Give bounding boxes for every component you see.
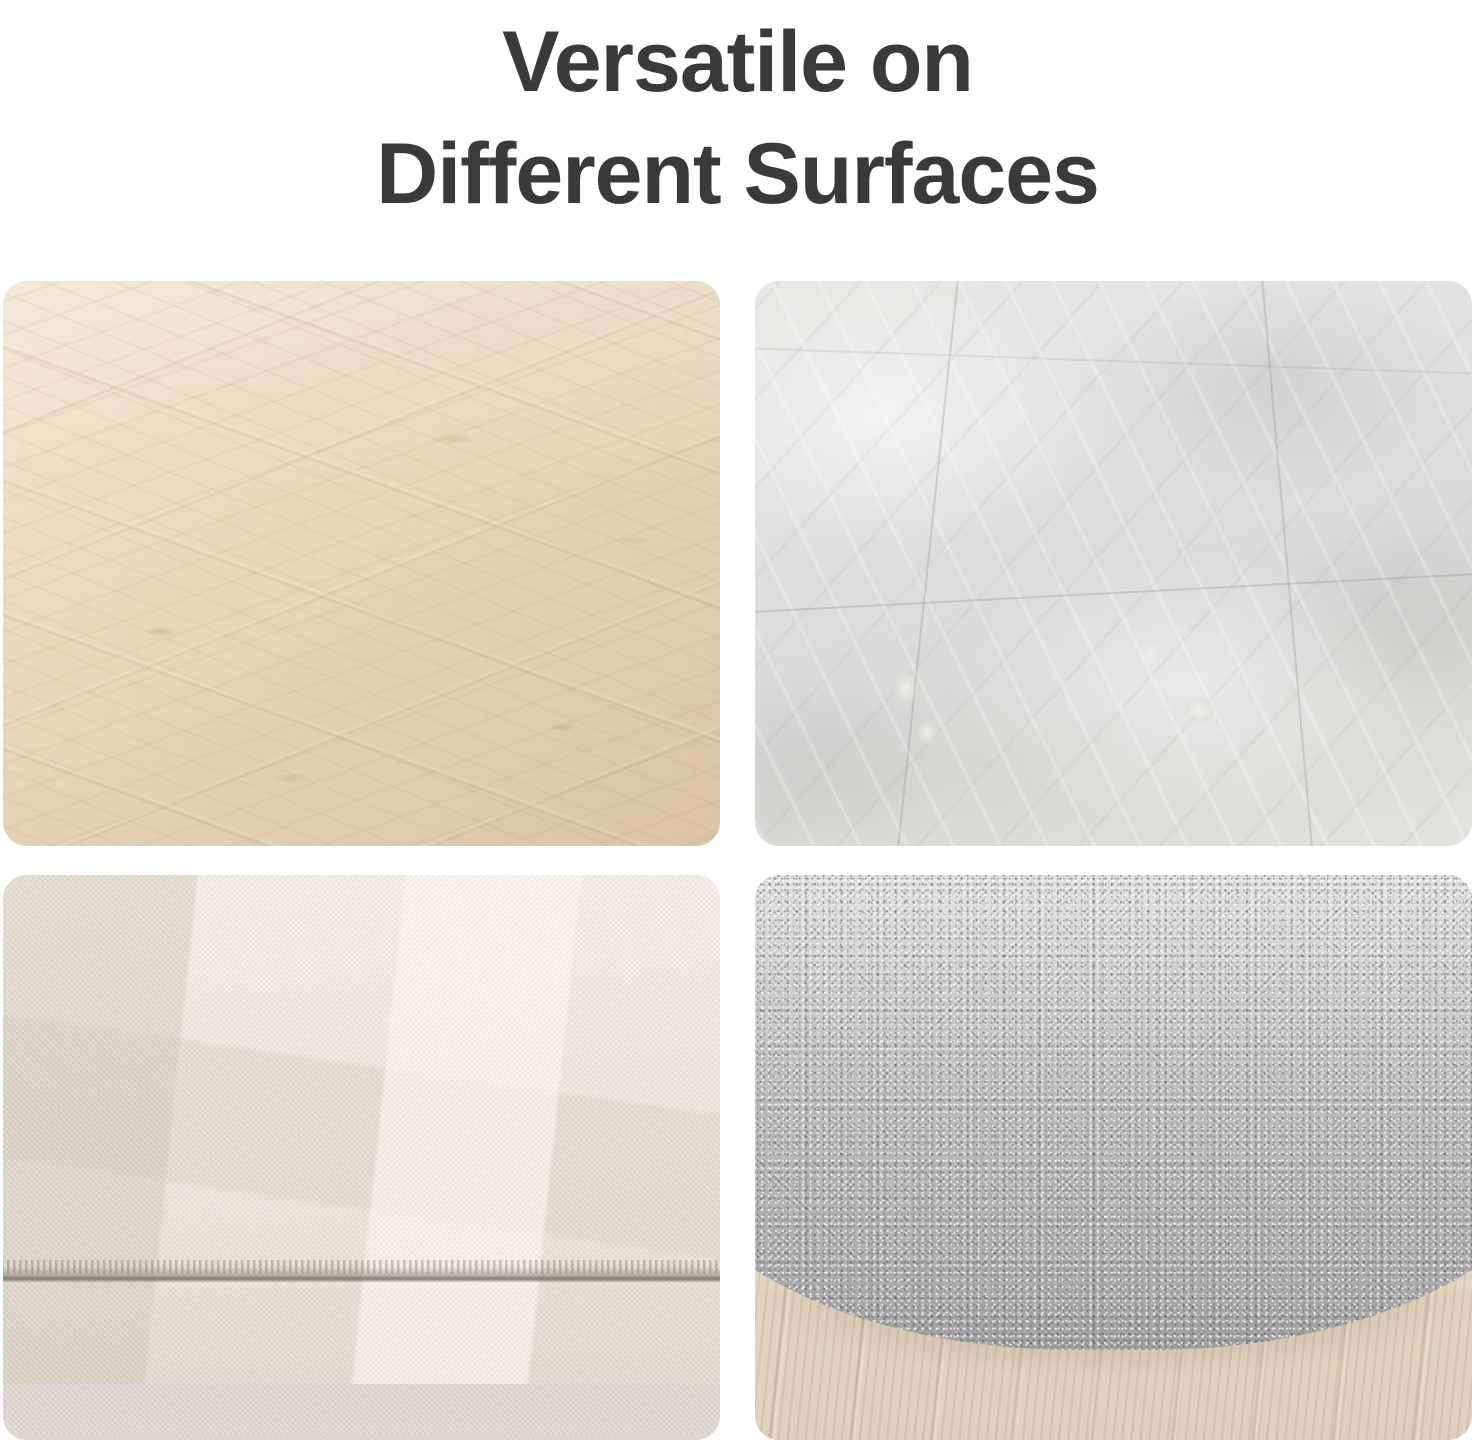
low-pile-rug bbox=[3, 875, 720, 1384]
low-pile-carpet-photo bbox=[3, 875, 720, 1440]
title-line-1: Versatile on bbox=[502, 6, 973, 118]
tile-floor-photo bbox=[755, 281, 1472, 846]
page-title: Versatile on Different Surfaces bbox=[0, 0, 1475, 270]
surface-panel-wooden-floor: Wooden Floor bbox=[3, 281, 720, 846]
high-pile-carpet-photo bbox=[755, 875, 1472, 1440]
title-line-2: Different Surfaces bbox=[376, 118, 1099, 230]
high-pile-shag-rug bbox=[755, 875, 1472, 1350]
rug-weave-texture bbox=[3, 875, 720, 1435]
wood-knot-marks bbox=[3, 281, 720, 846]
infographic-page: Versatile on Different Surfaces Wooden F… bbox=[0, 0, 1475, 1440]
surface-panel-high-pile-carpet: High Pile Carpet bbox=[755, 875, 1472, 1440]
surface-panel-low-pile-carpet: Low Pile Carpet bbox=[3, 875, 720, 1440]
rug-bound-edge bbox=[3, 1266, 720, 1282]
wooden-floor-photo bbox=[3, 281, 720, 846]
surface-grid: Wooden Floor Tile F bbox=[3, 281, 1472, 1440]
surface-panel-tile-floor: Tile Floor bbox=[755, 281, 1472, 846]
water-droplets bbox=[755, 281, 1472, 846]
shag-fiber-strands bbox=[755, 875, 1472, 1350]
